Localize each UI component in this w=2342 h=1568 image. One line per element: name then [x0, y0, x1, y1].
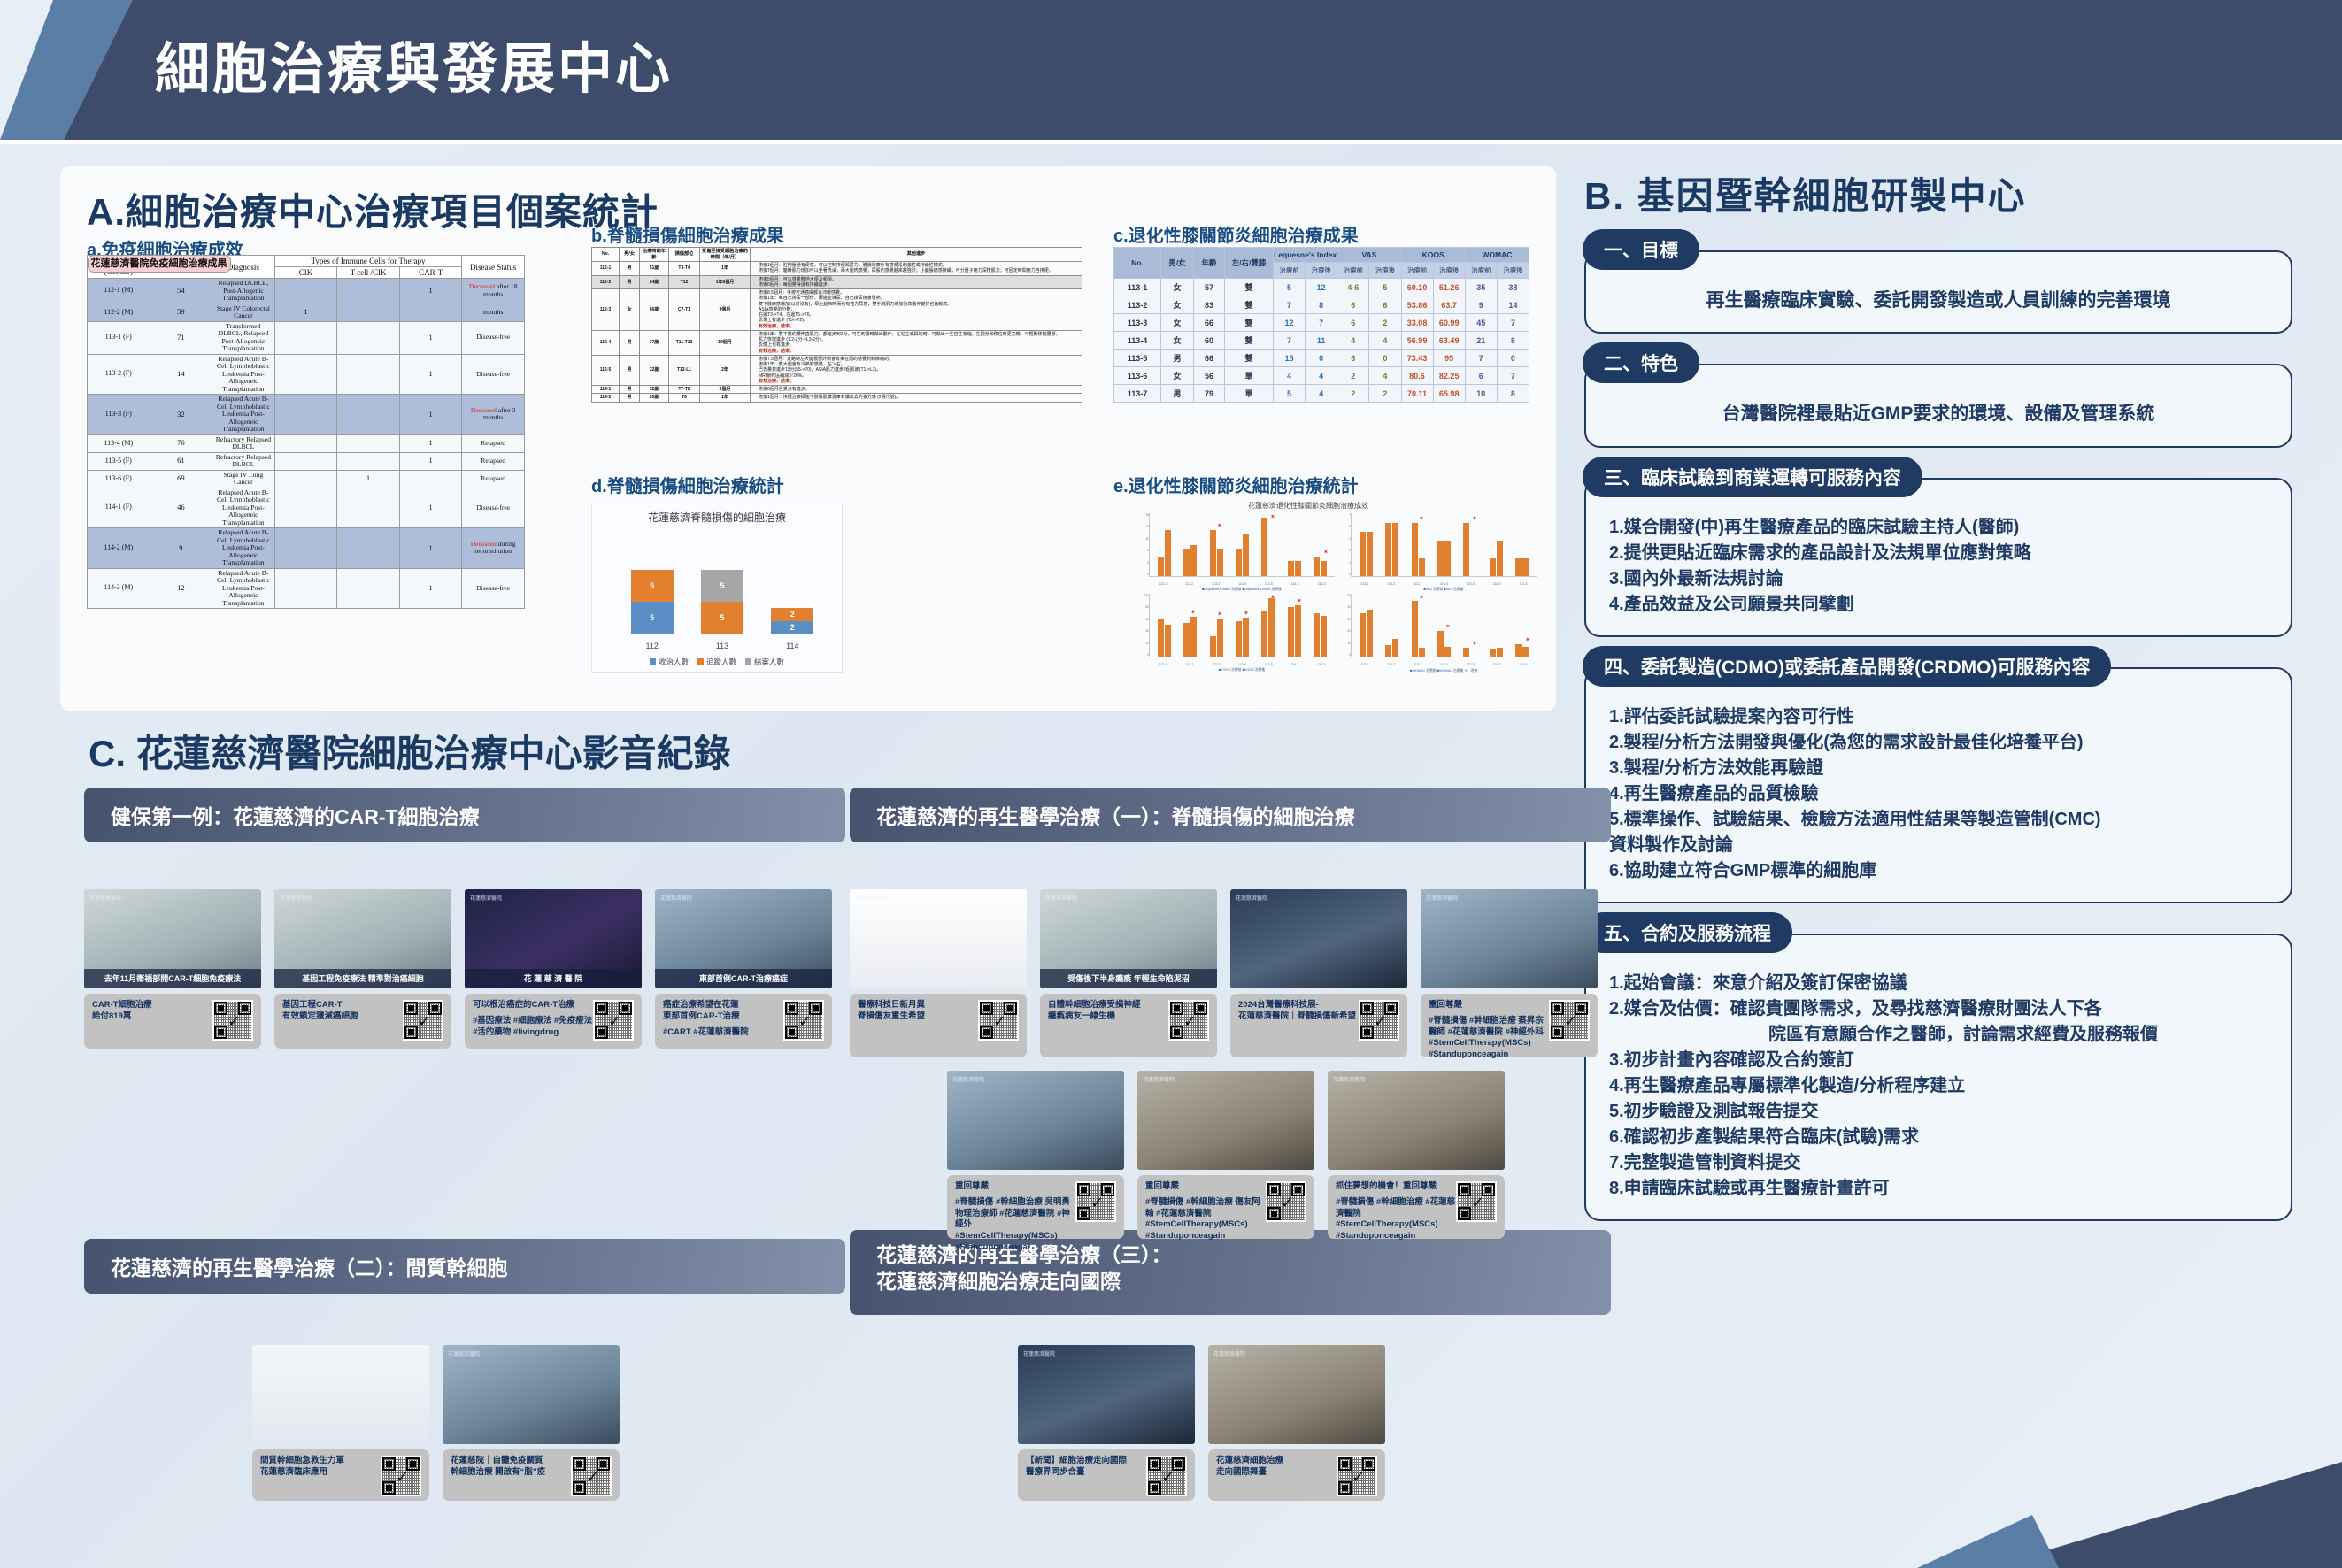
x-tick: 113-4	[1238, 582, 1246, 586]
cell-car-t: 1	[399, 279, 462, 304]
cell-vas: 4	[1337, 332, 1369, 350]
video-thumbnail[interactable]: 花蓮慈濟醫院	[252, 1345, 429, 1444]
cell: 83	[1194, 296, 1225, 314]
bar-pair	[1288, 596, 1301, 657]
video-caption: 抓住夢想的機會！重回尊嚴#脊髓損傷 #幹細胞治療 #花蓮慈濟醫院 #StemCe…	[1328, 1175, 1505, 1239]
x-tick: 114-3	[1318, 663, 1326, 666]
bar-pair	[1314, 515, 1327, 576]
bar-pair	[1236, 596, 1249, 657]
y-tick: 0	[1349, 573, 1351, 576]
cell-age: 14	[150, 354, 212, 395]
bar	[1165, 625, 1171, 657]
y-tick: 10	[1347, 642, 1351, 645]
y-axis-ticks: 764310	[1339, 513, 1351, 576]
chart-d-x-labels: 112113114	[617, 642, 828, 650]
y-axis-ticks: 161310630	[1137, 513, 1149, 576]
video-overlay-text: 花 蓮 慈 濟 醫 院	[465, 969, 642, 988]
cell: 57	[1194, 279, 1225, 296]
cell-no: 112-3	[592, 289, 620, 331]
cell-koos: 80.6	[1401, 367, 1433, 385]
panel-b-section-1: 一、目標再生醫療臨床實驗、委託開發製造或人員訓練的完善環境	[1584, 250, 2292, 334]
cell-koos: 51.26	[1433, 279, 1465, 296]
cell-koos: 60.99	[1433, 314, 1465, 332]
cell-diagnosis: Relapsed Acute B-Cell Lymphoblastic Leuk…	[212, 488, 275, 528]
cell-disease-status: Disease-free	[462, 568, 525, 609]
qr-code-icon[interactable]: ✓	[978, 1000, 1019, 1041]
bar-segment: 5	[701, 602, 743, 634]
video-caption-text: 癌症治療希望在花蓮東部首例CAR-T治療#CART #花蓮慈濟醫院	[663, 1000, 783, 1042]
cell: 113-3	[1114, 314, 1161, 332]
video-thumbnail[interactable]: 花蓮慈濟醫院	[1230, 889, 1407, 988]
cell-site: T12-L1	[669, 355, 700, 385]
video-thumbnail[interactable]: 花蓮慈濟醫院	[1018, 1345, 1195, 1444]
video-caption-tags: #脊髓損傷 #幹細胞治療 傷友阿翰 #花蓮慈濟醫院 #StemCellThera…	[1145, 1197, 1266, 1242]
video-caption-text: CAR-T細胞治療給付819萬	[92, 1000, 212, 1042]
x-tick: 113-2	[1387, 582, 1395, 586]
cell-diagnosis: Relapsed Acute B-Cell Lymphoblastic Leuk…	[212, 528, 275, 569]
col-subheader: 治療後	[1497, 263, 1529, 279]
cell-car-t: 1	[399, 568, 462, 609]
qr-code-icon[interactable]: ✓	[212, 1000, 253, 1041]
video-caption: 重回尊嚴#脊髓損傷 #幹細胞治療 傷友阿翰 #花蓮慈濟醫院 #StemCellT…	[1137, 1175, 1314, 1239]
section-line: 4.再生醫療產品的品質檢驗	[1609, 781, 2268, 807]
table-row: 113-1 (F)71Transformed DLBCL, Relapsed P…	[88, 321, 525, 354]
y-tick: 50	[1347, 594, 1351, 597]
video-caption: 間質幹細胞急救生力軍花蓮慈濟臨床應用✓	[252, 1449, 429, 1501]
section-line: 資料製作及討論	[1609, 833, 2268, 858]
cell-cik: 1	[274, 304, 337, 321]
y-tick: 0	[1349, 653, 1351, 657]
cell-koos: 65.98	[1433, 385, 1465, 403]
video-caption: 2024台灣醫療科技展-花蓮慈濟醫院｜脊髓損傷新希望✓	[1230, 994, 1407, 1057]
cell-disease-status: Deceased after 18 months	[462, 279, 525, 304]
qr-code-icon[interactable]: ✓	[381, 1456, 421, 1496]
cell-notes: 術後5個月：可以感覺敗地大便及頻現。術後6個月：每個覺得還有持續進步。	[751, 275, 1082, 289]
cell-vas: 6	[1369, 296, 1401, 314]
y-tick: 30	[1347, 618, 1351, 621]
cell-age: 32歲	[640, 355, 669, 385]
qr-code-icon[interactable]: ✓	[571, 1456, 612, 1496]
cell-cik	[274, 354, 337, 395]
video-thumbnail[interactable]: 花蓮慈濟醫院花 蓮 慈 濟 醫 院	[465, 889, 642, 988]
col-header: 治療時的年齡	[640, 248, 669, 262]
table-row: 112-3女66歲C7-T19個月術後8.5個月：手按可通體膚都充沛暖感覺。術後…	[592, 289, 1082, 331]
bar	[1210, 636, 1216, 657]
video-thumbnail[interactable]: 花蓮慈濟醫院	[1421, 889, 1598, 988]
section-line: 2.媒合及估價：確認貴團隊需求，及尋找慈濟醫療財團法人下各	[1609, 996, 2268, 1022]
subsection-c-title: c.退化性膝關節炎細胞治療成果	[1113, 221, 1529, 247]
panel-b-title: B. 基因暨幹細胞研製中心	[1584, 166, 2292, 220]
y-tick: 10	[1145, 537, 1149, 541]
note-item: 術後6個月：每個覺得還有持續進步。	[759, 282, 1080, 288]
video-caption-text: 重回尊嚴#脊髓損傷 #幹細胞治療 傷友阿翰 #花蓮慈濟醫院 #StemCellT…	[1145, 1181, 1266, 1233]
col-subheader: 治療前	[1274, 263, 1306, 279]
x-tick: 114-2	[1493, 663, 1501, 666]
cell-time: 1年	[700, 262, 751, 276]
qr-code-icon[interactable]: ✓	[1456, 1181, 1497, 1222]
qr-code-icon[interactable]: ✓	[783, 1000, 824, 1041]
spinal-cord-stacked-bar-chart: 花蓮慈濟脊髓損傷的細胞治療 555522 112113114 收治人數追蹤人數結…	[591, 503, 843, 673]
cell-wo: 38	[1497, 279, 1529, 296]
x-tick: 113-4	[1440, 663, 1448, 666]
hospital-logo: 花蓮慈濟醫院	[258, 1349, 289, 1357]
section-line: 6.確認初步產製結果符合臨床(試驗)需求	[1609, 1125, 2268, 1150]
section-line: 5.標準操作、試驗結果、檢驗方法適用性結果等製造管制(CMC)	[1609, 807, 2268, 833]
cell-site: T11-T12	[669, 330, 700, 355]
bar	[1243, 618, 1249, 657]
x-axis-labels: 113-1113-2113-3113-4113-5114-2114-3	[1150, 663, 1335, 666]
qr-code-icon[interactable]: ✓	[1266, 1181, 1306, 1222]
qr-code-icon[interactable]: ✓	[1359, 1000, 1399, 1041]
cell-tcell-cik	[337, 568, 400, 609]
x-tick: 113-5	[1467, 582, 1475, 586]
bar	[1190, 545, 1197, 576]
group-heading-car-t: 健保第一例：花蓮慈濟的CAR-T細胞治療	[84, 788, 845, 842]
bar	[1392, 523, 1398, 576]
legend-item: 收治人數	[650, 657, 689, 667]
qr-code-icon[interactable]: ✓	[403, 1000, 443, 1041]
table-row: 112-2 (M)59Stage IV Colorectal Cancer1mo…	[88, 304, 525, 321]
cell-no: 114-1	[592, 386, 620, 394]
x-tick: 113-5	[1265, 663, 1273, 666]
subsection-e-title: e.退化性膝關節炎細胞治療統計	[1113, 472, 1538, 497]
hospital-logo: 花蓮慈濟醫院	[1333, 1075, 1365, 1083]
bar	[1321, 561, 1327, 577]
video-caption-text: 花蓮慈濟細胞治療走向國際舞臺	[1216, 1456, 1337, 1495]
col-header: 其他進步	[751, 248, 1082, 262]
qr-code-icon[interactable]: ✓	[1549, 1000, 1590, 1041]
cell-diagnosis: Stage IV Colorectal Cancer	[212, 304, 275, 321]
subsection-b-title: b.脊髓損傷細胞治療成果	[591, 221, 1082, 247]
section-line: 3.初步計畫內容確認及合約簽訂	[1609, 1048, 2268, 1073]
y-tick: 13	[1145, 525, 1149, 528]
x-tick: 113-3	[1414, 582, 1421, 586]
cell: 雙	[1225, 332, 1274, 350]
bar	[1437, 541, 1444, 576]
bar	[1360, 532, 1366, 576]
section-line: 2.製程/分析方法開發與優化(為您的需求設計最佳化培養平台)	[1609, 730, 2268, 756]
section-line: 院區有意願合作之醫師，討論需求經費及服務報價	[1609, 1022, 2268, 1048]
chart-d-plot-area: 555522	[617, 534, 828, 634]
video-caption-text: 【新聞】細胞治療走向國際醫療界同步合臺	[1026, 1456, 1146, 1495]
cell-tcell-cik	[337, 434, 400, 452]
video-thumbnail[interactable]: 花蓮慈濟醫院東部首例CAR-T治療癌症	[655, 889, 832, 988]
bar	[1392, 639, 1398, 657]
section-line: 再生醫療臨床實驗、委託開發製造或人員訓練的完善環境	[1609, 288, 2268, 314]
bar-pair	[1490, 515, 1503, 576]
cell-site: T6	[669, 394, 700, 402]
x-tick: 113-3	[1212, 582, 1220, 586]
cell-age: 12	[150, 568, 212, 609]
y-tick: 20	[1145, 642, 1149, 645]
cell-diagnosis: Relapsed DLBCL, Post-Allogenic Transplan…	[212, 279, 275, 304]
cell-site: T7-T8	[669, 386, 700, 394]
bar-pair	[1158, 515, 1171, 576]
bar-pair	[1437, 596, 1451, 657]
section-tab-label: 五、合約及服務流程	[1583, 912, 1792, 953]
col-disease-status: Disease Status	[462, 256, 525, 279]
video-overlay-text: 去年11月衛福部開CAR-T細胞免疫療法	[84, 969, 261, 988]
cell-koos: 33.08	[1401, 314, 1433, 332]
cell-vas: 0	[1369, 350, 1401, 367]
cell-cik	[274, 395, 337, 435]
cell-car-t	[399, 470, 462, 488]
bar-pair	[1288, 515, 1301, 576]
table-row: 114-2男20歲T61年術後1個月：快埋治療細胞下肢股肌膜清車有讀出去的張力感…	[592, 394, 1082, 402]
cell-no: 114-3 (M)	[88, 568, 150, 609]
bar	[1412, 601, 1418, 657]
cell-cik	[274, 470, 337, 488]
cell-no: 112-4	[592, 330, 620, 355]
chart-womac: ✶✶✶✶50403020100113-1113-2113-3113-4113-5…	[1351, 594, 1537, 673]
qr-code-icon[interactable]: ✓	[1168, 1000, 1209, 1041]
group-heading-line: 花蓮慈濟的再生醫學治療（一）：脊髓損傷的細胞治療	[876, 800, 1355, 830]
group-heading-line: 花蓮慈濟細胞治療走向國際	[876, 1269, 1611, 1295]
video-caption-text: 基因工程CAR-T有效鎖定獵滅癌細胞	[282, 1000, 403, 1042]
video-thumbnail[interactable]: 花蓮慈濟醫院	[1328, 1071, 1505, 1170]
bar	[1463, 648, 1469, 657]
panel-b-section-5: 五、合約及服務流程1.起始會議：來意介紹及簽訂保密協議2.媒合及估價：確認貴團隊…	[1584, 934, 2292, 1221]
bar-pair	[1261, 515, 1275, 576]
bar	[1288, 607, 1294, 657]
cell-diagnosis: Refractory Relapsed DLBCL	[212, 434, 275, 452]
cell-koos: 53.86	[1401, 296, 1433, 314]
table-row: 113-2女83雙786653.8663.7914	[1114, 296, 1529, 314]
cell-li: 7	[1274, 332, 1306, 350]
col-subheader: 治療前	[1337, 263, 1369, 279]
mini-chart-legend: ■WOMAC 治療前 ■WOMAC 治療後 ✶：改善	[1351, 668, 1537, 673]
bar-pair	[1210, 515, 1223, 576]
x-tick: 113-1	[1159, 582, 1167, 586]
cell-li: 5	[1274, 385, 1306, 403]
cell-no: 112-5	[592, 355, 620, 385]
cell-no: 112-1	[592, 262, 620, 276]
cell: 66	[1194, 314, 1225, 332]
cell-vas: 4	[1369, 332, 1401, 350]
cell-tcell-cik	[337, 354, 400, 395]
cell-tcell-cik	[337, 395, 400, 435]
hospital-logo: 花蓮慈濟醫院	[952, 1075, 984, 1083]
x-tick: 114-3	[1520, 582, 1528, 586]
cell-li: 12	[1274, 314, 1306, 332]
x-tick: 114-2	[1291, 582, 1299, 586]
bar-pair	[1412, 515, 1425, 576]
cell: 113-1	[1114, 279, 1161, 296]
cell-age: 66歲	[640, 289, 669, 331]
cell-li: 8	[1306, 296, 1337, 314]
hospital-logo: 花蓮慈濟醫院	[1143, 1075, 1175, 1083]
bar-pair	[1314, 596, 1327, 657]
video-overlay-text: 受傷後下半身癱瘓 年輕生命陷泥沼	[1040, 969, 1217, 988]
cell-koos: 70.11	[1401, 385, 1433, 403]
video-caption-tags: #脊髓損傷 #幹細胞治療 蔡昇宗醫師 #花蓮慈濟醫院 #神經外科 #StemCe…	[1429, 1016, 1549, 1061]
bar	[1419, 648, 1425, 657]
table-row: 113-2 (F)14Relapsed Acute B-Cell Lymphob…	[88, 354, 525, 395]
note-item: 有效治療，結束。	[759, 349, 1080, 354]
cell-vas: 2	[1369, 385, 1401, 403]
cell-age: 61	[150, 452, 212, 470]
video-thumbnail[interactable]: 花蓮慈濟醫院	[947, 1071, 1124, 1170]
col-2: 年齡	[1194, 248, 1225, 279]
video-thumbnail[interactable]: 花蓮慈濟醫院受傷後下半身癱瘓 年輕生命陷泥沼	[1040, 889, 1217, 988]
hospital-logo: 花蓮慈濟醫院	[280, 894, 312, 902]
cell-vas: 2	[1337, 385, 1369, 403]
mini-chart-plot: ✶✶✶✶50403020100113-1113-2113-3113-4113-5…	[1351, 594, 1537, 657]
col-header: 受傷至接受細胞治療的時間（年/月）	[700, 248, 751, 262]
cell-tcell-cik	[337, 528, 400, 569]
table-row: 114-2 (M)9Relapsed Acute B-Cell Lymphobl…	[88, 528, 525, 569]
section-line: 6.協助建立符合GMP標準的細胞庫	[1609, 858, 2268, 884]
col-header: 男/女	[620, 248, 640, 262]
x-tick-label: 114	[771, 642, 813, 650]
corner-shape-dark	[1882, 1462, 2342, 1568]
panel-b-section-2: 二、特色台灣醫院裡最貼近GMP要求的環境、設備及管理系統	[1584, 364, 2292, 447]
bar-pair	[1183, 596, 1197, 657]
cell: 女	[1161, 279, 1194, 296]
cell-disease-status: Disease-free	[462, 488, 525, 528]
qr-code-icon[interactable]: ✓	[1146, 1456, 1187, 1496]
mini-chart-legend: ■KOOS 治療前 ■KOOS 治療後	[1149, 668, 1335, 673]
video-thumbnail[interactable]: 花蓮慈濟醫院	[1137, 1071, 1314, 1170]
col-cik: CIK	[274, 267, 337, 279]
note-item: 有效治療，結束。	[759, 324, 1080, 329]
cell-age: 32	[150, 395, 212, 435]
qr-code-icon[interactable]: ✓	[1075, 1181, 1116, 1222]
cell-li: 4	[1306, 367, 1337, 385]
bar-segment: 5	[701, 570, 743, 602]
header-underline	[0, 140, 2342, 144]
cell-no: 113-3 (F)	[88, 395, 150, 435]
cell-tcell-cik	[337, 279, 400, 304]
bar-pair	[1183, 515, 1197, 576]
bar	[1515, 558, 1522, 576]
cell-li: 15	[1274, 350, 1306, 367]
col-tcell-cik: T-cell /CIK	[337, 267, 400, 279]
cell: 79	[1194, 385, 1225, 403]
qr-code-icon[interactable]: ✓	[1337, 1456, 1377, 1496]
y-tick: 60	[1145, 618, 1149, 621]
x-tick: 114-2	[1493, 582, 1501, 586]
cell-no: 112-1 (M)	[88, 279, 150, 304]
section-line: 1.評估委託試驗提案內容可行性	[1609, 704, 2268, 730]
cell: 男	[1161, 385, 1194, 403]
bar-pair	[1463, 515, 1476, 576]
col-group-VAS: VAS	[1337, 248, 1401, 263]
cell-li: 5	[1274, 279, 1306, 296]
x-tick: 113-4	[1238, 663, 1246, 666]
video-caption: 重回尊嚴#脊髓損傷 #幹細胞治療 吳明勇物理治療師 #花蓮慈濟醫院 #神經外 #…	[947, 1175, 1124, 1239]
video-thumbnail[interactable]: 花蓮慈濟醫院	[850, 889, 1027, 988]
cell-wo: 14	[1497, 296, 1529, 314]
cell-cik	[274, 452, 337, 470]
bar	[1497, 648, 1503, 657]
cell-li: 0	[1306, 350, 1337, 367]
cell: 113-6	[1114, 367, 1161, 385]
video-caption: 【新聞】細胞治療走向國際醫療界同步合臺✓	[1018, 1449, 1195, 1501]
cell-sex: 男	[620, 275, 640, 289]
table-row: 113-7男79單542270.1165.98108	[1114, 385, 1529, 403]
chart-vas: ✶✶764310113-1113-2113-3113-4113-5114-211…	[1351, 513, 1537, 592]
col-cell-types: Types of Immune Cells for Therapy	[274, 256, 462, 267]
x-tick: 113-2	[1185, 582, 1193, 586]
hospital-logo: 花蓮慈濟醫院	[1045, 894, 1077, 902]
mini-chart-plot: ✶✶764310113-1113-2113-3113-4113-5114-211…	[1351, 513, 1537, 577]
cell-wo: 7	[1465, 350, 1497, 367]
table-row: 113-3女66雙1276233.0860.99457	[1114, 314, 1529, 332]
video-thumbnail[interactable]: 花蓮慈濟醫院	[443, 1345, 620, 1444]
panel-c-title: C. 花蓮慈濟醫院細胞治療中心影音紀錄	[89, 724, 731, 778]
video-thumbnail[interactable]: 花蓮慈濟醫院基因工程免疫療法 精準對治癌細胞	[274, 889, 451, 988]
cell-vas: 6	[1337, 350, 1369, 367]
note-item: 有效治療，結束。	[759, 379, 1080, 384]
video-caption-text: 2024台灣醫療科技展-花蓮慈濟醫院｜脊髓損傷新希望	[1238, 1000, 1359, 1051]
x-tick: 114-3	[1520, 663, 1528, 666]
cell-notes: 術後6個月自覺沒有進步。	[751, 386, 1082, 394]
subsection-b: b.脊髓損傷細胞治療成果 No.男/女治療時的年齡損傷部位受傷至接受細胞治療的時…	[591, 221, 1082, 403]
group-heading-msc: 花蓮慈濟的再生醫學治療（二）：間質幹細胞	[84, 1239, 845, 1294]
cell-disease-status: Relapsed	[462, 470, 525, 488]
qr-code-icon[interactable]: ✓	[593, 1000, 634, 1041]
cell-age: 71	[150, 321, 212, 354]
cell-disease-status: Relapsed	[462, 452, 525, 470]
table-row: 114-1 (F)46Relapsed Acute B-Cell Lymphob…	[88, 488, 525, 528]
panel-a-case-statistics: A.細胞治療中心治療項目個案統計 a.免疫細胞治療成效 花蓮慈濟醫院免疫細胞治療…	[60, 166, 1556, 711]
bar	[1158, 619, 1164, 657]
panel-b-gene-stemcell-center: B. 基因暨幹細胞研製中心 一、目標再生醫療臨床實驗、委託開發製造或人員訓練的完…	[1584, 166, 2292, 1529]
x-tick: 114-2	[1291, 663, 1299, 666]
video-caption-text: 間質幹細胞急救生力軍花蓮慈濟臨床應用	[260, 1456, 381, 1495]
cell-time: 1年8個月	[700, 275, 751, 289]
cell-wo: 8	[1497, 385, 1529, 403]
hospital-logo: 花蓮慈濟醫院	[660, 894, 692, 902]
video-caption: 自體幹細胞治療受損神經癱瘓病友一線生機✓	[1040, 994, 1217, 1057]
bar-pair	[1360, 515, 1373, 576]
knee-oa-chart-grid: 花蓮慈濟退化性膝關節炎細胞治療成效 ✶✶✶161310630113-1113-2…	[1113, 501, 1503, 656]
cell-wo: 6	[1465, 367, 1497, 385]
cell-cik	[274, 434, 337, 452]
group-heading-line: 花蓮慈濟的再生醫學治療（二）：間質幹細胞	[111, 1251, 508, 1281]
col-header: 損傷部位	[669, 248, 700, 262]
note-item: 術後1個月：快埋治療細胞下肢股肌膜清車有讀出去的張力感 (2週代號)。	[759, 395, 1080, 400]
cell-age: 32歲	[640, 386, 669, 394]
cell-koos: 56.99	[1401, 332, 1433, 350]
cell-diagnosis: Relapsed Acute B-Cell Lymphoblastic Leuk…	[212, 395, 275, 435]
cell: 雙	[1225, 314, 1274, 332]
cell: 113-4	[1114, 332, 1161, 350]
video-caption: 癌症治療希望在花蓮東部首例CAR-T治療#CART #花蓮慈濟醫院✓	[655, 994, 832, 1049]
bar-pair	[1490, 596, 1503, 657]
mini-chart-plot: ✶✶✶✶✶100806040200113-1113-2113-3113-4113…	[1149, 594, 1335, 657]
col-subheader: 治療後	[1433, 263, 1465, 279]
bar-segment: 2	[771, 608, 813, 620]
cell-vas: 6	[1337, 296, 1369, 314]
x-tick: 113-2	[1185, 663, 1193, 666]
bar-pair	[1210, 596, 1223, 657]
poster-title: 細胞治療與發展中心	[155, 24, 673, 104]
mini-chart-legend: ■Lequesne's Index 治療前 ■Lequesne's Index …	[1149, 588, 1335, 592]
bar-pair	[1515, 515, 1529, 576]
cell-age: 37歲	[640, 330, 669, 355]
cell-car-t: 1	[399, 434, 462, 452]
hospital-logo: 花蓮慈濟醫院	[470, 894, 502, 902]
bar	[1210, 530, 1216, 577]
video-thumbnail[interactable]: 花蓮慈濟醫院去年11月衛福部開CAR-T細胞免疫療法	[84, 889, 261, 988]
bar-pair	[1385, 515, 1398, 576]
video-thumbnail[interactable]: 花蓮慈濟醫院	[1208, 1345, 1385, 1444]
legend-item: 結案人數	[745, 657, 784, 667]
y-axis-ticks: 100806040200	[1137, 594, 1149, 657]
cell-sex: 男	[620, 262, 640, 276]
